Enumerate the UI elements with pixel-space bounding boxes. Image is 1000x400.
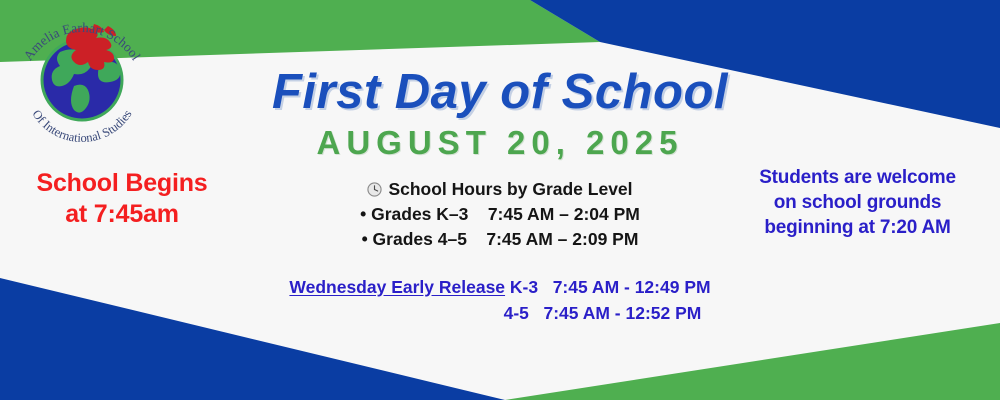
students-welcome-line-1: Students are welcome: [735, 165, 980, 190]
early-release-label: Wednesday Early Release: [289, 277, 505, 297]
first-day-date: AUGUST 20, 2025: [230, 126, 770, 159]
students-welcome-line-2: on school grounds: [735, 190, 980, 215]
clock-icon: [367, 182, 382, 197]
school-begins-note: School Begins at 7:45am: [6, 168, 238, 229]
early-release-hours-k3: K-3 7:45 AM - 12:49 PM: [505, 277, 711, 297]
page-title: First Day of School: [230, 68, 770, 117]
grade-hours-row-k3: • Grades K–3 7:45 AM – 2:04 PM: [230, 202, 770, 227]
first-day-of-school-banner: Amelia Earhart School Of International S…: [0, 0, 1000, 400]
bottom-right-green-wedge: [505, 323, 1000, 400]
school-begins-line-1: School Begins: [6, 168, 238, 199]
school-hours-heading-row: School Hours by Grade Level: [230, 177, 770, 202]
school-begins-line-2: at 7:45am: [6, 199, 238, 230]
students-welcome-note: Students are welcome on school grounds b…: [735, 165, 980, 240]
early-release-block: Wednesday Early Release K-3 7:45 AM - 12…: [230, 274, 770, 327]
early-release-row-k3: Wednesday Early Release K-3 7:45 AM - 12…: [230, 274, 770, 300]
school-hours-heading: School Hours by Grade Level: [388, 177, 632, 202]
students-welcome-line-3: beginning at 7:20 AM: [735, 215, 980, 240]
main-content: First Day of School AUGUST 20, 2025 Scho…: [230, 68, 770, 326]
school-logo: Amelia Earhart School Of International S…: [8, 6, 156, 146]
early-release-hours-45: 4-5 7:45 AM - 12:52 PM: [230, 300, 770, 326]
grade-hours-row-45: • Grades 4–5 7:45 AM – 2:09 PM: [230, 227, 770, 252]
school-hours-block: School Hours by Grade Level • Grades K–3…: [230, 177, 770, 252]
